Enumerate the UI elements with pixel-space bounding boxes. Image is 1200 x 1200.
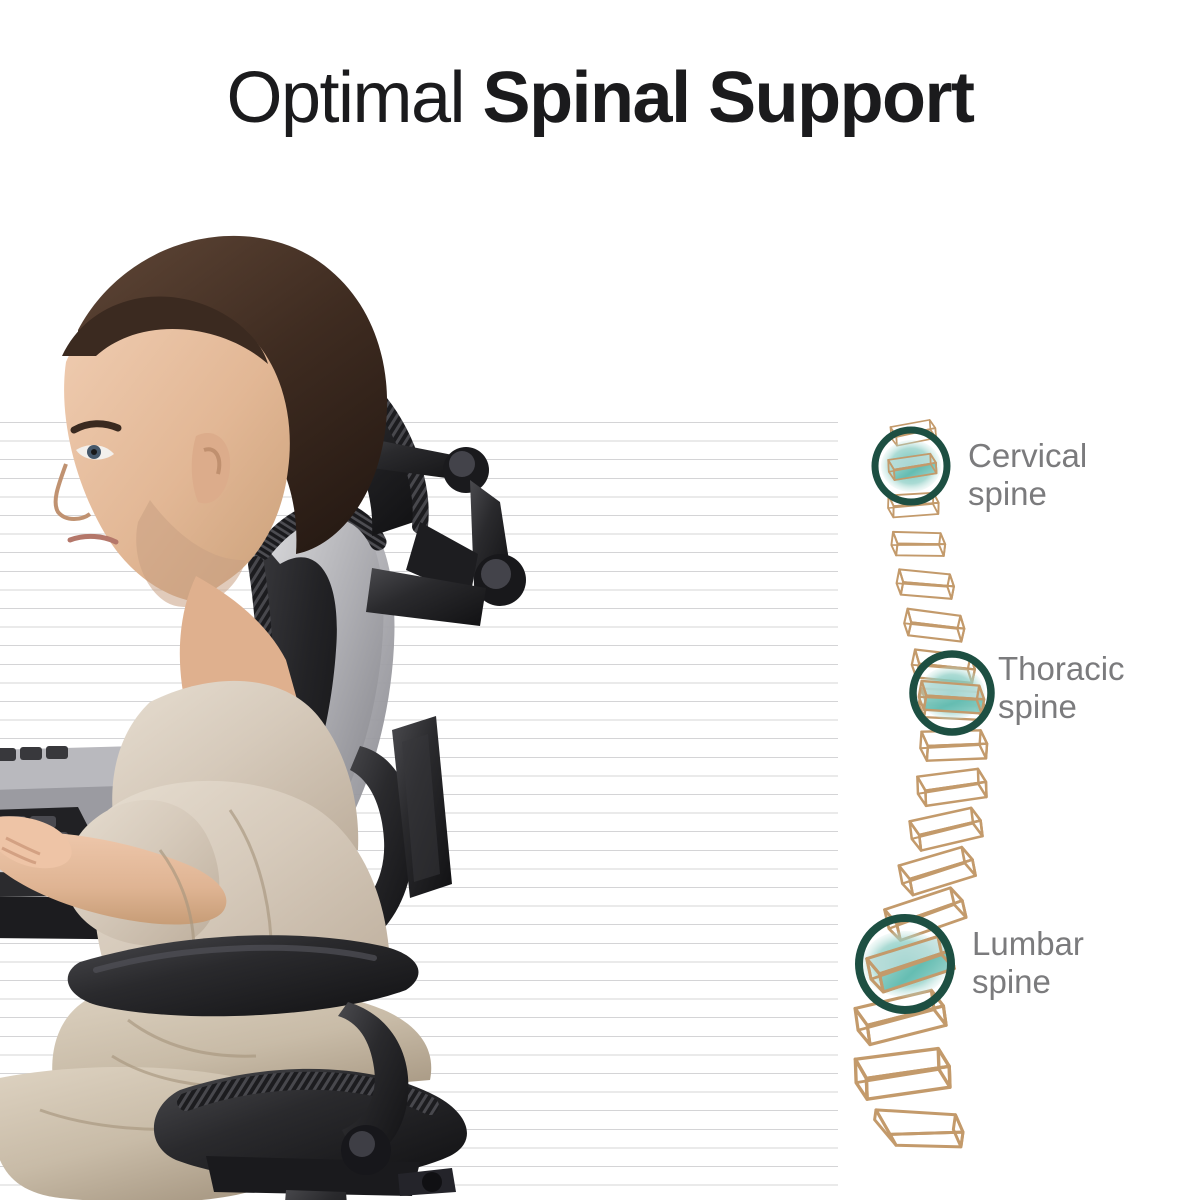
highlight-thoracic [913, 654, 991, 732]
label-thoracic-spine: Thoracic spine [998, 650, 1125, 726]
vertebra-t7 [909, 807, 983, 852]
vertebra-t1 [895, 565, 956, 605]
headline-bold-part: Spinal Support [483, 58, 974, 138]
vertebra-t2 [902, 604, 967, 647]
spine-diagram [838, 400, 1008, 1180]
vertebra-sacrum [871, 1104, 965, 1154]
headline-regular-part: Optimal [226, 58, 482, 138]
hero-photo [0, 150, 860, 1200]
vertebra-t8 [898, 846, 977, 897]
vertebra-c4 [890, 527, 946, 561]
label-cervical-spine: Cervical spine [968, 437, 1087, 513]
page-title: Optimal Spinal Support [0, 58, 1200, 138]
label-lumbar-spine: Lumbar spine [972, 925, 1084, 1001]
vertebra-stack [854, 419, 988, 1154]
vertebra-l4 [855, 1048, 950, 1099]
highlight-lumbar [859, 918, 956, 1010]
highlight-cervical [875, 430, 947, 502]
vertebra-t6 [917, 769, 987, 807]
product-feature-graphic: Optimal Spinal Support [0, 0, 1200, 1200]
